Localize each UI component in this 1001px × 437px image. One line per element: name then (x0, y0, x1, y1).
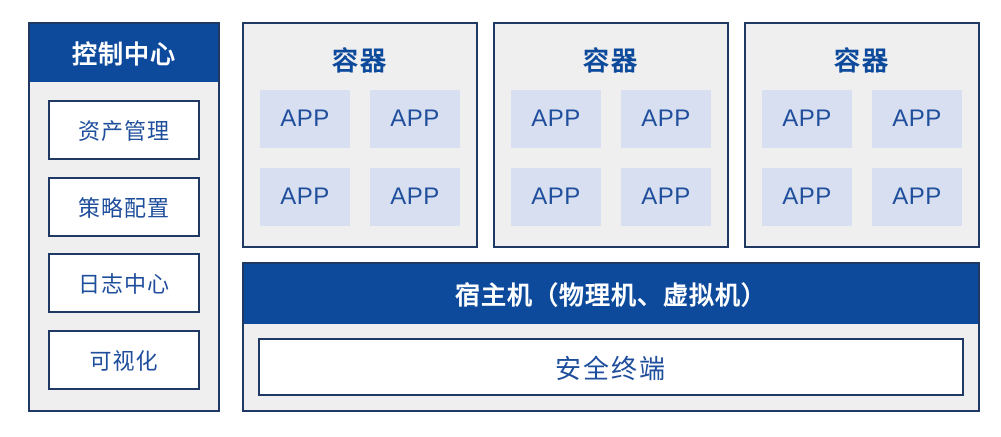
app-box[interactable]: APP (260, 90, 350, 148)
app-box-label: APP (892, 183, 942, 211)
security-endpoint-label: 安全终端 (555, 349, 667, 386)
control-center-title: 控制中心 (30, 24, 218, 82)
app-box-label: APP (390, 183, 440, 211)
app-box[interactable]: APP (621, 90, 711, 148)
app-box-label: APP (390, 105, 440, 133)
container-title: 容器 (583, 41, 639, 78)
control-center-item-label: 策略配置 (78, 191, 170, 223)
app-grid: APP APP APP APP (746, 90, 978, 226)
app-box-label: APP (280, 105, 330, 133)
app-box-label: APP (892, 105, 942, 133)
control-center-item-log-center[interactable]: 日志中心 (48, 253, 200, 313)
container-panel-2: 容器 APP APP APP APP (493, 22, 729, 248)
app-grid: APP APP APP APP (244, 90, 476, 226)
control-center-item-visualization[interactable]: 可视化 (48, 330, 200, 390)
app-box-label: APP (782, 105, 832, 133)
app-box-label: APP (531, 183, 581, 211)
container-title: 容器 (332, 41, 388, 78)
host-machine-panel: 宿主机（物理机、虚拟机） 安全终端 (242, 262, 980, 412)
app-box[interactable]: APP (511, 168, 601, 226)
app-box-label: APP (531, 105, 581, 133)
control-center-panel: 控制中心 资产管理 策略配置 日志中心 可视化 (28, 22, 220, 412)
app-box[interactable]: APP (370, 90, 460, 148)
control-center-item-label: 资产管理 (78, 114, 170, 146)
app-box-label: APP (280, 183, 330, 211)
app-grid: APP APP APP APP (495, 90, 727, 226)
app-box[interactable]: APP (370, 168, 460, 226)
app-box[interactable]: APP (872, 168, 962, 226)
app-box[interactable]: APP (762, 90, 852, 148)
host-machine-title: 宿主机（物理机、虚拟机） (244, 264, 978, 324)
app-box-label: APP (782, 183, 832, 211)
control-center-item-label: 日志中心 (78, 267, 170, 299)
app-box[interactable]: APP (621, 168, 711, 226)
control-center-item-asset-management[interactable]: 资产管理 (48, 100, 200, 160)
security-endpoint-box[interactable]: 安全终端 (258, 338, 964, 396)
architecture-diagram: 控制中心 资产管理 策略配置 日志中心 可视化 容器 APP (0, 0, 1001, 437)
app-box[interactable]: APP (762, 168, 852, 226)
control-center-item-policy-config[interactable]: 策略配置 (48, 177, 200, 237)
app-box-label: APP (641, 183, 691, 211)
container-panel-1: 容器 APP APP APP APP (242, 22, 478, 248)
host-machine-body: 安全终端 (244, 324, 978, 410)
app-box[interactable]: APP (872, 90, 962, 148)
container-panel-3: 容器 APP APP APP APP (744, 22, 980, 248)
container-title: 容器 (834, 41, 890, 78)
control-center-item-label: 可视化 (89, 344, 158, 376)
app-box[interactable]: APP (511, 90, 601, 148)
app-box[interactable]: APP (260, 168, 350, 226)
control-center-item-list: 资产管理 策略配置 日志中心 可视化 (30, 82, 218, 410)
app-box-label: APP (641, 105, 691, 133)
container-panel-row: 容器 APP APP APP APP 容器 APP (242, 22, 980, 248)
